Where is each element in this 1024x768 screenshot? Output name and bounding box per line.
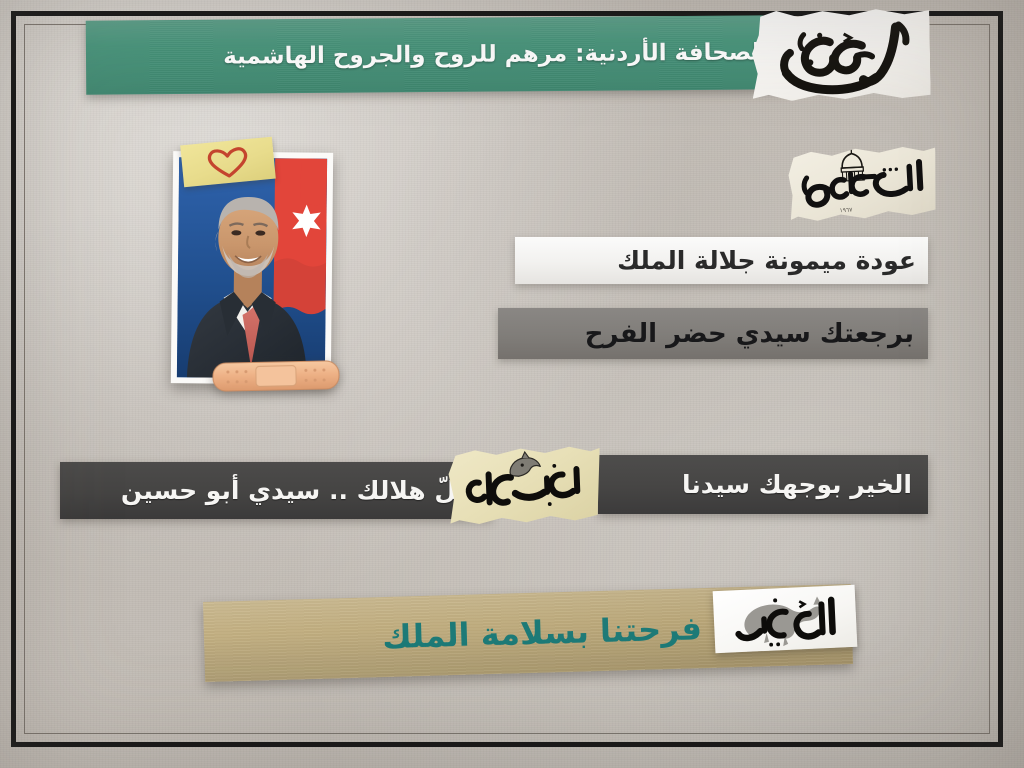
jarasa-logo-text: جراصة <box>928 6 929 7</box>
headline-text-2: برجعتك سيدي حضر الفرح <box>585 319 914 349</box>
ad-dustour-logo: ١٩٦٧ الدستور <box>787 143 939 223</box>
heart-icon <box>202 143 253 181</box>
headline-text-1: عودة ميمونة جلالة الملك <box>617 246 916 275</box>
headline-text-5: فرحتنا بسلامة الملك <box>382 609 703 656</box>
horse-icon <box>509 451 540 476</box>
title-banner: الصحافة الأردنية: مرهم للروح والجروح اله… <box>86 15 787 94</box>
headline-bar-3: الخير بوجهك سيدنا <box>598 455 928 514</box>
saraya-logo: سرايا <box>448 444 603 526</box>
horse-silhouette-icon <box>743 596 823 647</box>
headline-text-3: الخير بوجهك سيدنا <box>682 470 912 499</box>
headline-text-4: هلّ هلالك .. سيدي أبو حسين <box>121 476 474 505</box>
king-portrait-photo <box>177 157 327 379</box>
ad-dustour-year: ١٩٦٧ <box>839 207 853 215</box>
poster-title: الصحافة الأردنية: مرهم للروح والجروح اله… <box>223 39 768 69</box>
al-rai-logo: الرأي <box>713 585 858 653</box>
poster-canvas: الصحافة الأردنية: مرهم للروح والجروح اله… <box>0 0 1024 768</box>
sticky-note <box>180 137 276 188</box>
bandage-icon <box>212 357 341 396</box>
headline-bar-1: عودة ميمونة جلالة الملك <box>515 237 928 284</box>
headline-bar-4: هلّ هلالك .. سيدي أبو حسين <box>60 462 492 519</box>
jarasa-calligraphy-logo: جراصة <box>751 6 931 101</box>
headline-bar-2: برجعتك سيدي حضر الفرح <box>498 308 928 359</box>
